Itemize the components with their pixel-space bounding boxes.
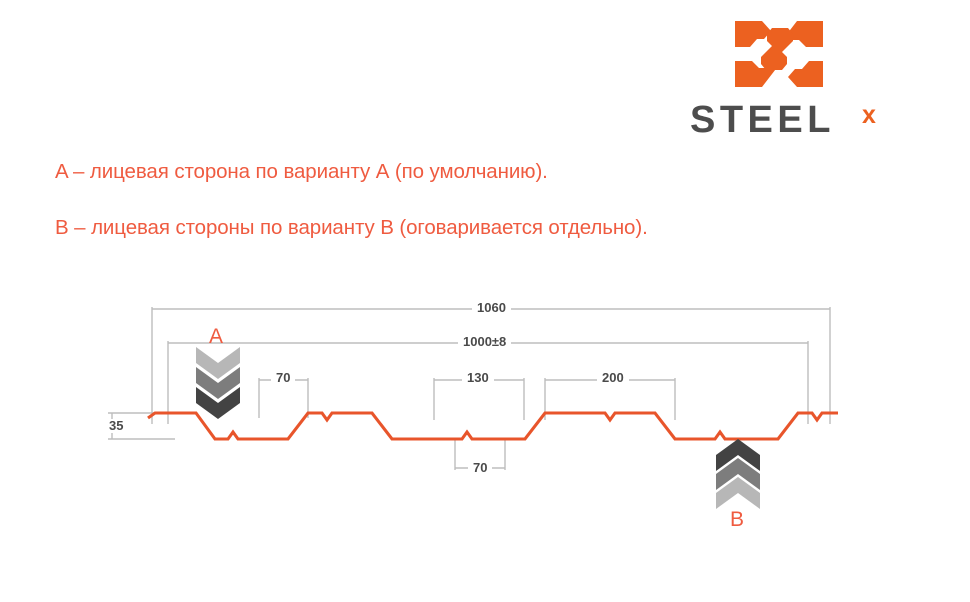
corrugated-profile-path [148,413,838,439]
side-a-chevron-marker [196,347,240,419]
profile-technical-drawing [0,0,970,597]
side-b-chevron-marker [716,439,760,509]
dimension-label-70-bottom: 70 [468,461,492,475]
dimension-label-1000: 1000±8 [458,335,511,349]
dimension-lines [152,309,830,468]
dimension-label-35: 35 [104,419,128,433]
side-a-letter: A [209,325,223,349]
dimension-label-70-top: 70 [271,371,295,385]
side-b-letter: B [730,508,744,532]
dimension-label-130: 130 [462,371,494,385]
dimension-label-1060: 1060 [472,301,511,315]
dimension-label-200: 200 [597,371,629,385]
